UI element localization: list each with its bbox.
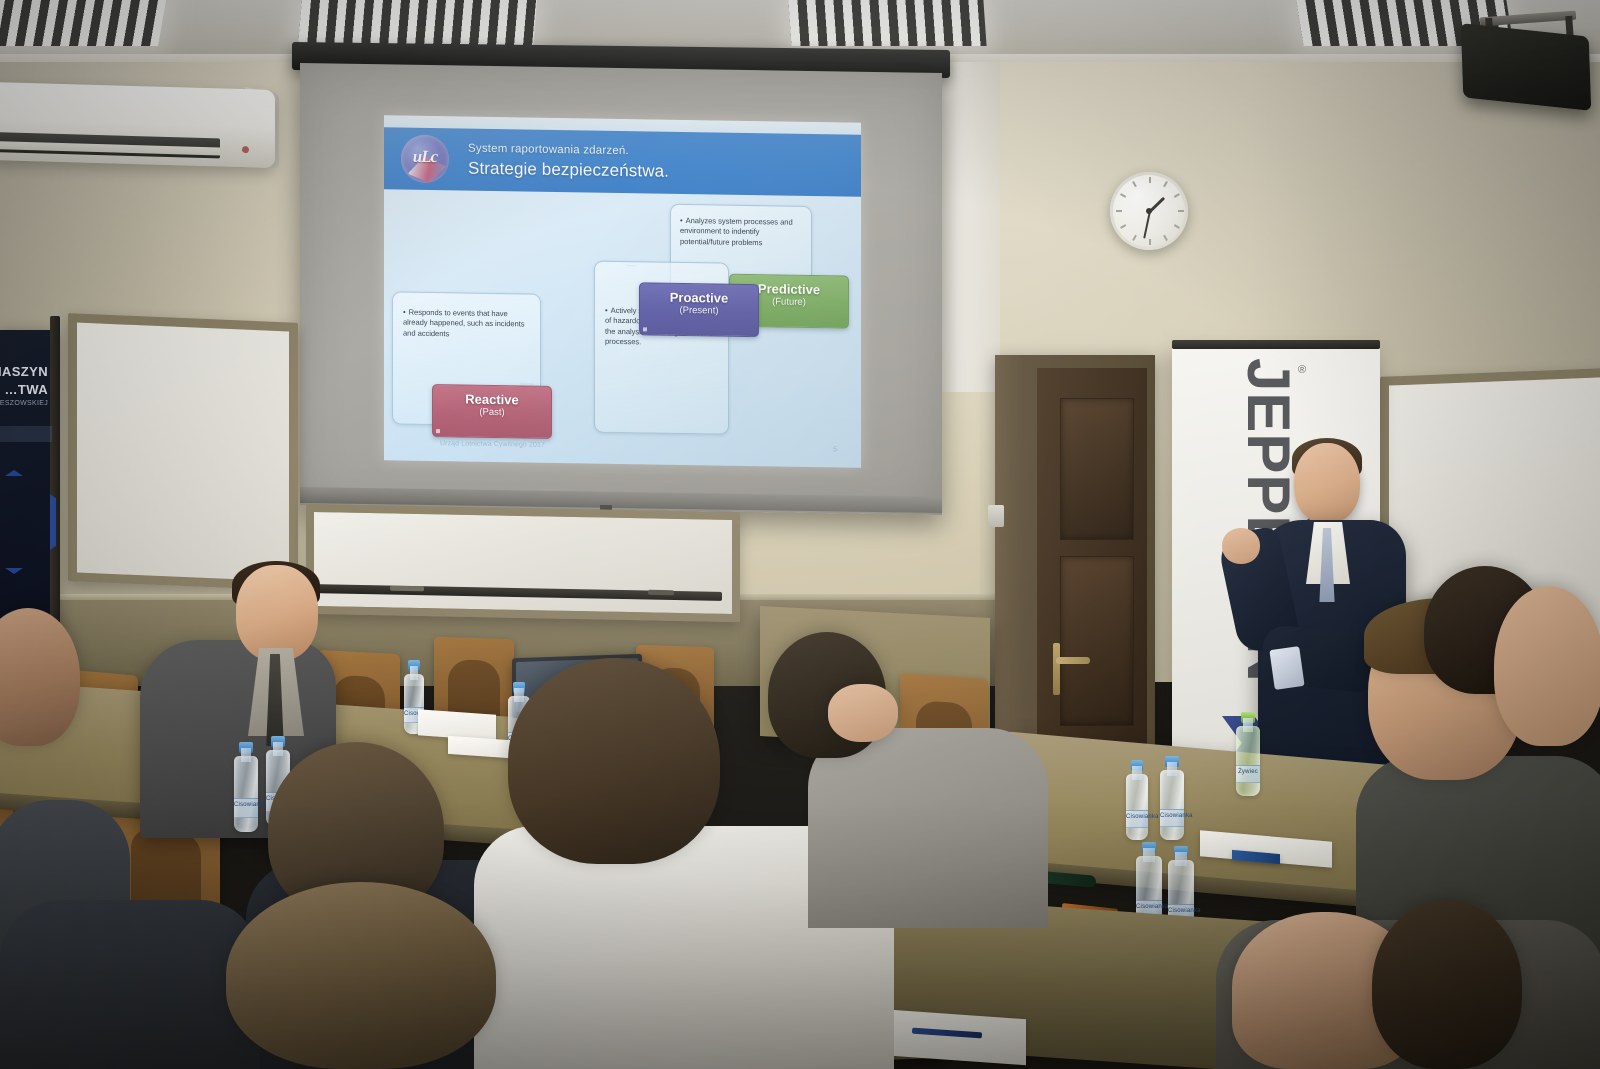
logo-text: uLc [401,147,449,168]
predictive-description: Analyzes system processes and environmen… [680,216,793,247]
attendee-face [828,684,898,742]
clock-tick [1163,235,1168,241]
light-switch[interactable] [988,505,1004,527]
bottle-label: Żywiec [1236,765,1260,784]
box-handle [643,327,647,331]
attendee-head [236,565,318,661]
clock-tick [1120,224,1126,229]
green-bottle[interactable]: Żywiec [1236,712,1260,798]
reactive-box: Reactive (Past) [432,384,552,439]
bottle-label: Cisowianka [234,798,258,818]
proactive-sublabel: (Present) [640,304,758,318]
presenter-fist [1222,528,1260,564]
ulc-logo-icon: uLc [401,135,449,184]
slide-page-number: 5 [833,446,837,453]
whiteboard-center [306,504,740,622]
wall-speaker [1461,23,1592,111]
door-handle-lever[interactable] [1056,657,1090,664]
clock-tick [1163,181,1168,187]
banner-left-line1: …MASZYN [0,364,48,379]
clock-tick [1174,224,1180,229]
bullet-glyph: • [680,216,683,227]
door-panel-lower [1060,556,1134,726]
ceiling-light-panel [298,0,537,46]
clock-tick [1132,235,1137,241]
wall-clock [1110,172,1188,250]
bottle-body: Cisowianka [1160,770,1184,840]
reactive-description: Responds to events that have already hap… [403,308,525,339]
whiteboard-eraser [648,590,674,595]
presenter-lanyard-badge [1269,646,1304,690]
whiteboard-left [68,313,298,591]
attendee-head-back [508,658,720,864]
ceiling-light-panel [0,0,166,46]
clock-tick [1174,193,1180,198]
reactive-sublabel: (Past) [433,406,551,420]
banner-pole [50,316,60,664]
clock-center-pin [1146,208,1152,214]
clock-tick [1116,210,1122,212]
water-bottle[interactable]: Cisowianka [1160,756,1184,842]
attendee-shoulders [0,900,260,1069]
slide-footer: Urząd Lotnictwa Cywilnego 2017 [440,440,545,449]
attendee-head-back [226,882,496,1069]
bullet-glyph: • [403,308,406,319]
clock-tick [1149,177,1151,183]
clock-minute-hand [1143,210,1151,239]
bottle-body: Cisowianka [234,756,258,832]
presenter-head [1294,443,1360,523]
bottle-body: Cisowianka [1126,774,1148,840]
banner-left-line3: …RZESZOWSKIEJ [0,400,48,407]
box-handle [436,429,440,433]
bullet-glyph: • [605,306,608,317]
slide-subtitle: System raportowania zdarzeń. [468,143,629,158]
water-bottle[interactable]: Cisowianka [234,742,258,834]
attendee-grey-sweater [808,728,1048,928]
clock-tick [1132,181,1137,187]
bottle-label: Cisowianka [1160,809,1184,828]
banner-registered-mark: ® [1298,364,1306,376]
air-conditioner [0,82,275,168]
ceiling-light-panel [788,0,986,46]
door-handle-plate[interactable] [1053,643,1060,695]
ac-status-led [242,146,249,153]
slide-header: uLc System raportowania zdarzeń. Strateg… [384,127,861,196]
bottle-label: Cisowianka [1126,810,1148,828]
bottle-body: Żywiec [1236,726,1260,796]
water-bottle[interactable]: Cisowianka [1126,760,1148,840]
banner-left-band [0,426,52,442]
door-panel-upper [1060,398,1134,540]
attendee-head [1494,586,1600,746]
slide-title: Strategie bezpieczeństwa. [468,159,669,182]
ac-vent [0,132,220,158]
banner-left-line2: …TWA [5,382,48,397]
clock-tick [1120,193,1126,198]
clock-tick [1178,210,1184,212]
proactive-box: Proactive (Present) [639,282,759,337]
whiteboard-marker [390,586,424,592]
hexagon-logo-icon [0,470,56,574]
attendee-head-back [1372,900,1522,1069]
banner-top-bar [1172,340,1380,349]
clock-tick [1149,239,1151,245]
presentation-slide: uLc System raportowania zdarzeń. Strateg… [384,115,861,467]
conference-room-photo: uLc System raportowania zdarzeń. Strateg… [0,0,1600,1069]
